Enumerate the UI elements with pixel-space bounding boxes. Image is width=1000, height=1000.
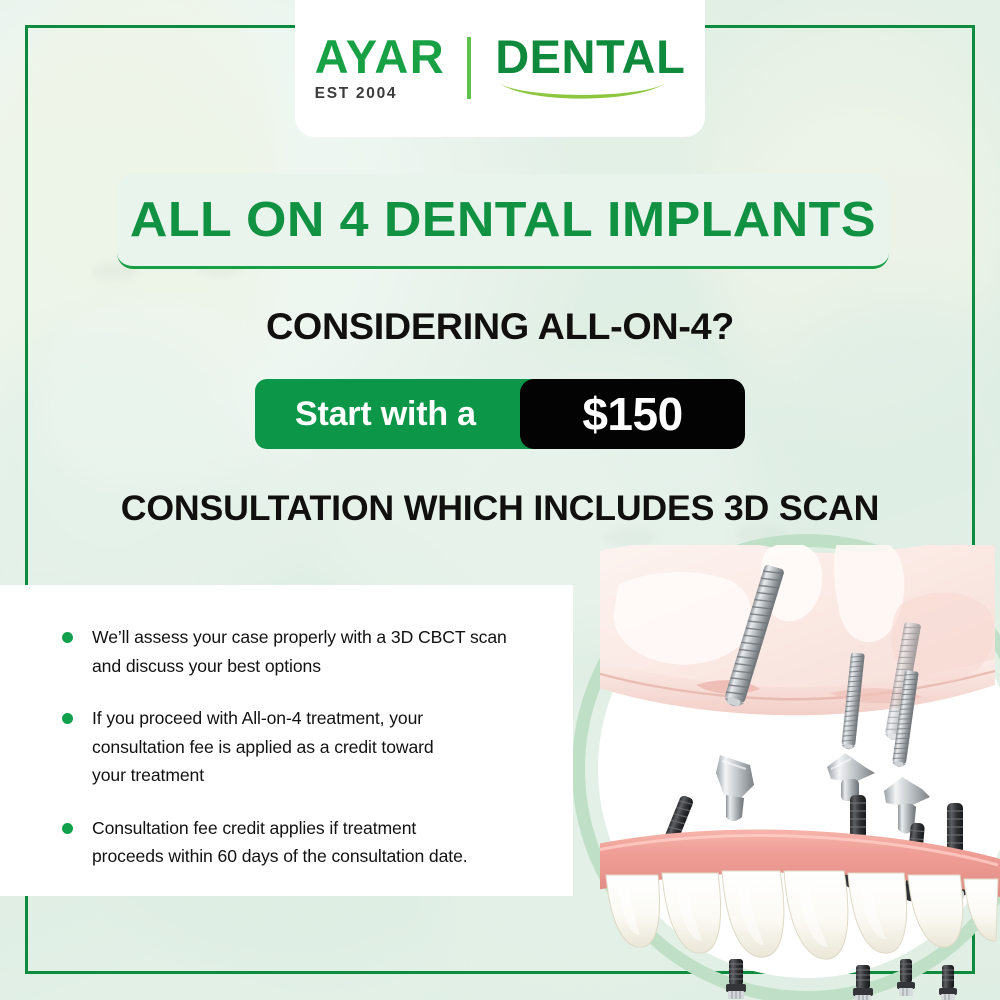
list-item: Consultation fee credit applies if treat… (62, 814, 562, 871)
logo-right-block: DENTAL (471, 34, 685, 79)
benefit-line: and discuss your best options (92, 652, 562, 681)
list-item: If you proceed with All-on-4 treatment, … (62, 704, 562, 790)
brand-name-primary: AYAR (315, 34, 446, 79)
prosthetic-screw (939, 965, 957, 1000)
multi-unit-abutment (827, 753, 875, 801)
jawbone-upper (600, 545, 995, 715)
benefit-line: If you proceed with All-on-4 treatment, … (92, 704, 562, 733)
prosthetic-screw (726, 959, 746, 999)
benefits-panel: We’ll assess your case properly with a 3… (0, 585, 573, 896)
brand-established: EST 2004 (315, 85, 446, 103)
logo-left-block: AYAR EST 2004 (315, 34, 468, 102)
full-arch-denture-bridge (600, 830, 1000, 960)
bullet-dot-icon (62, 823, 73, 834)
offer-description: CONSULTATION WHICH INCLUDES 3D SCAN (0, 489, 1000, 529)
bullet-dot-icon (62, 713, 73, 724)
prosthetic-screw (853, 965, 873, 1000)
benefit-line: your treatment (92, 761, 562, 790)
offer-price-pill: $150 (520, 379, 745, 449)
offer-banner: Start with a $150 (255, 379, 745, 449)
multi-unit-abutment (716, 755, 754, 821)
benefit-line: We’ll assess your case properly with a 3… (92, 623, 562, 652)
brand-logo-card: AYAR EST 2004 DENTAL (295, 0, 705, 137)
benefits-list: We’ll assess your case properly with a 3… (62, 623, 562, 871)
all-on-4-implant-illustration (600, 545, 1000, 1000)
offer-price-value: $150 (582, 387, 682, 441)
poster-canvas: AYAR EST 2004 DENTAL ALL ON 4 DENTAL IMP… (0, 0, 1000, 1000)
benefit-line: proceeds within 60 days of the consultat… (92, 842, 562, 871)
headline-pill: ALL ON 4 DENTAL IMPLANTS (117, 174, 889, 269)
brand-name-secondary: DENTAL (495, 34, 685, 79)
list-item: We’ll assess your case properly with a 3… (62, 623, 562, 680)
smile-swoosh-icon (497, 80, 669, 106)
benefit-line: consultation fee is applied as a credit … (92, 733, 562, 762)
subheading-question: CONSIDERING ALL-ON-4? (0, 306, 1000, 348)
offer-prefix-label: Start with a (295, 395, 476, 434)
page-title: ALL ON 4 DENTAL IMPLANTS (130, 192, 876, 248)
benefit-line: Consultation fee credit applies if treat… (92, 814, 562, 843)
bullet-dot-icon (62, 632, 73, 643)
prosthetic-screw (897, 959, 915, 996)
